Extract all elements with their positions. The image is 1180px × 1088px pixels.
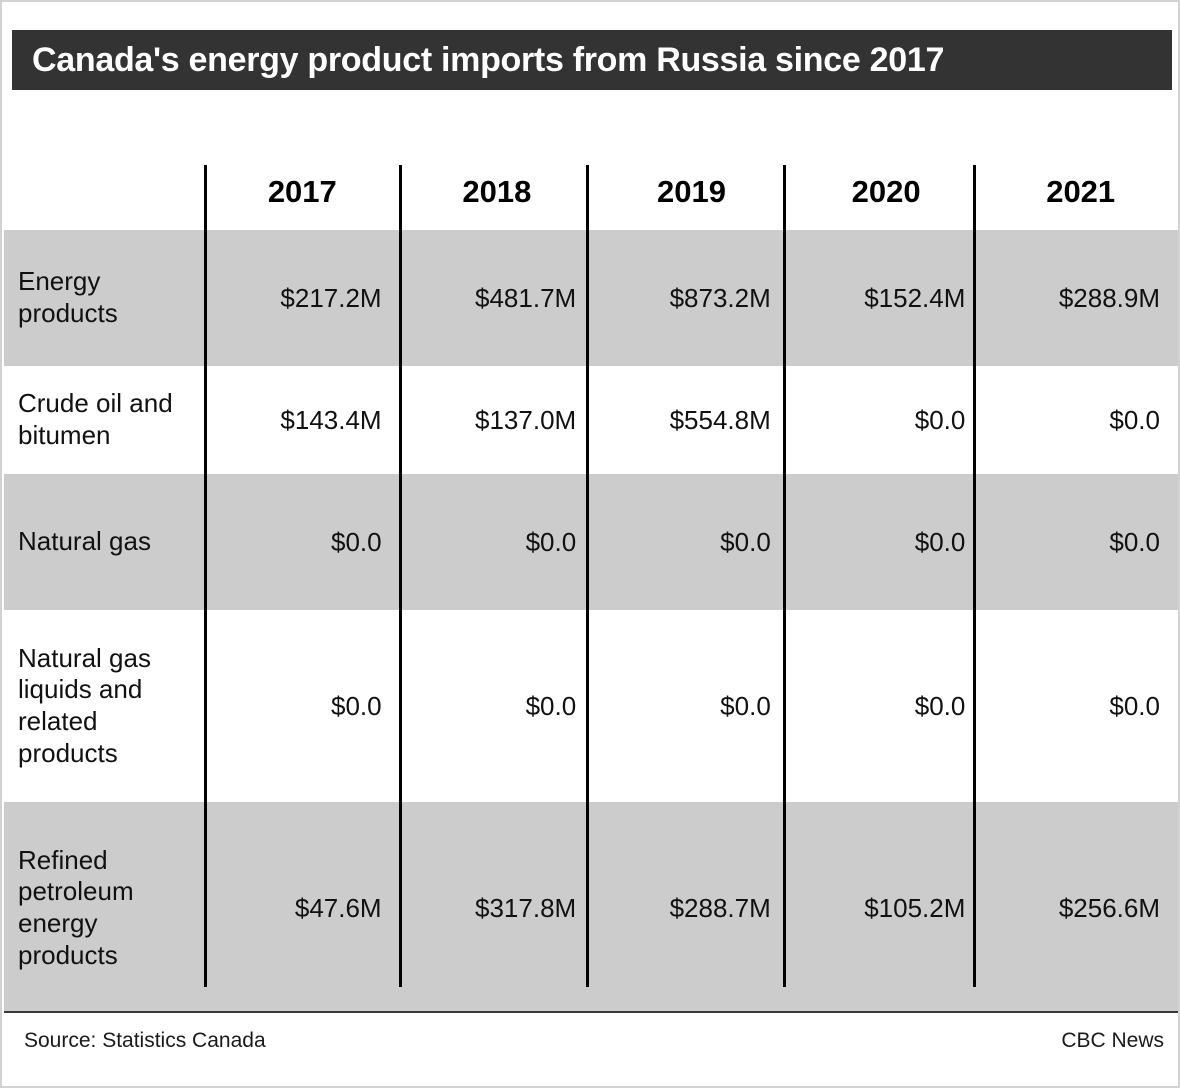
brand-attribution: CBC News [1061, 1029, 1164, 1053]
cell-energy-products-2018: $481.7M [400, 230, 595, 366]
column-header-2020: 2020 [789, 154, 984, 230]
cell-crude-oil-2019: $554.8M [594, 366, 789, 474]
cell-natural-gas-2017: $0.0 [205, 474, 400, 610]
source-attribution: Source: Statistics Canada [24, 1029, 266, 1053]
column-header-2019: 2019 [594, 154, 789, 230]
cell-refined-2019: $288.7M [594, 802, 789, 1014]
table-header-row: 2017 2018 2019 2020 2021 [4, 154, 1178, 230]
column-header-2017: 2017 [205, 154, 400, 230]
row-label-natural-gas: Natural gas [4, 474, 205, 610]
cell-crude-oil-2021: $0.0 [983, 366, 1178, 474]
row-label-refined-petroleum: Refined petroleum energy products [4, 802, 205, 1014]
cell-ngl-2017: $0.0 [205, 610, 400, 802]
cell-natural-gas-2019: $0.0 [594, 474, 789, 610]
column-header-2018: 2018 [400, 154, 595, 230]
cell-refined-2017: $47.6M [205, 802, 400, 1014]
energy-imports-table: 2017 2018 2019 2020 2021 Energy products… [4, 154, 1178, 1014]
cell-natural-gas-2021: $0.0 [983, 474, 1178, 610]
data-table-wrapper: 2017 2018 2019 2020 2021 Energy products… [4, 154, 1178, 1010]
table-row: Energy products $217.2M $481.7M $873.2M … [4, 230, 1178, 366]
cell-crude-oil-2018: $137.0M [400, 366, 595, 474]
cell-crude-oil-2020: $0.0 [789, 366, 984, 474]
footer: Source: Statistics Canada CBC News [4, 1011, 1178, 1086]
table-body: Energy products $217.2M $481.7M $873.2M … [4, 230, 1178, 1014]
cell-natural-gas-2020: $0.0 [789, 474, 984, 610]
row-label-crude-oil-and-bitumen: Crude oil and bitumen [4, 366, 205, 474]
cell-natural-gas-2018: $0.0 [400, 474, 595, 610]
infographic-container: Canada's energy product imports from Rus… [0, 0, 1180, 1088]
cell-energy-products-2020: $152.4M [789, 230, 984, 366]
table-row: Natural gas $0.0 $0.0 $0.0 $0.0 $0.0 [4, 474, 1178, 610]
cell-ngl-2018: $0.0 [400, 610, 595, 802]
column-header-2021: 2021 [983, 154, 1178, 230]
table-row: Crude oil and bitumen $143.4M $137.0M $5… [4, 366, 1178, 474]
cell-energy-products-2017: $217.2M [205, 230, 400, 366]
table-row: Natural gas liquids and related products… [4, 610, 1178, 802]
cell-refined-2020: $105.2M [789, 802, 984, 1014]
column-header-blank [4, 154, 205, 230]
row-label-energy-products: Energy products [4, 230, 205, 366]
page-title: Canada's energy product imports from Rus… [32, 41, 944, 80]
table-row: Refined petroleum energy products $47.6M… [4, 802, 1178, 1014]
title-bar: Canada's energy product imports from Rus… [12, 30, 1172, 90]
cell-ngl-2021: $0.0 [983, 610, 1178, 802]
cell-ngl-2020: $0.0 [789, 610, 984, 802]
row-label-natural-gas-liquids: Natural gas liquids and related products [4, 610, 205, 802]
cell-refined-2018: $317.8M [400, 802, 595, 1014]
cell-refined-2021: $256.6M [983, 802, 1178, 1014]
table-header: 2017 2018 2019 2020 2021 [4, 154, 1178, 230]
cell-energy-products-2021: $288.9M [983, 230, 1178, 366]
cell-ngl-2019: $0.0 [594, 610, 789, 802]
cell-energy-products-2019: $873.2M [594, 230, 789, 366]
cell-crude-oil-2017: $143.4M [205, 366, 400, 474]
